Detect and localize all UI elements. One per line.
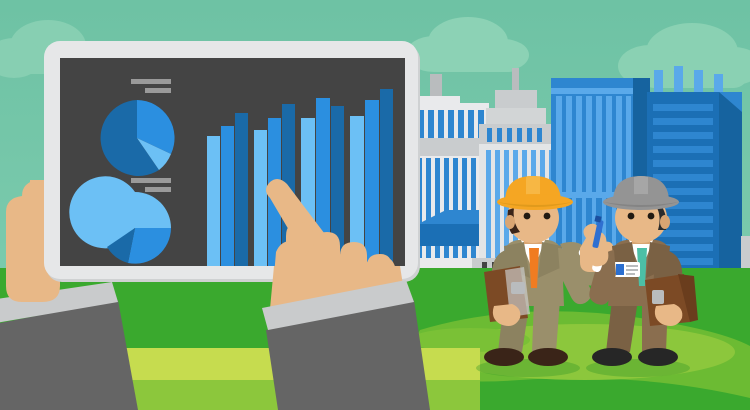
engineer-gray-shoe-back [592, 348, 632, 366]
pie-bottom-label-short [145, 187, 171, 192]
engineer-gray-clipboard-clip [652, 290, 664, 304]
building-white-left-band [411, 138, 489, 156]
illustration-scene [0, 0, 750, 410]
building-gray-tower-antenna [512, 68, 519, 90]
pie-top-label-long [131, 79, 171, 84]
engineer-orange-shoe-back [484, 348, 524, 366]
engineer-orange-shoe-front [528, 348, 568, 366]
building-navy-right-side [718, 92, 742, 274]
building-white-left-roofplate [418, 224, 489, 246]
engineer-orange-clipboard-clip [511, 282, 525, 294]
engineer-gray-shoe-front [638, 348, 678, 366]
bar-g1-mid [221, 126, 234, 266]
engineer-gray-id-badge-photo [616, 264, 624, 275]
engineer-gray-pen-tip [594, 215, 601, 222]
bar-g1-dark [235, 113, 248, 266]
engineer-orange-eye-left [524, 213, 531, 220]
engineer-gray-hardhat-brim [603, 194, 679, 210]
building-gray-tower-step2 [486, 108, 546, 124]
engineer-orange-hardhat-brim [497, 194, 573, 210]
pie-chart-top[interactable] [101, 100, 175, 176]
bar-g4-dark [380, 89, 393, 266]
building-far-left-small [430, 74, 442, 96]
engineer-orange-eye-right [544, 213, 551, 220]
engineer-orange-leg-front [532, 300, 560, 352]
engineer-gray-eye-left [628, 213, 635, 220]
pie-bottom-label-long [131, 178, 171, 183]
bar-g4-mid [365, 100, 379, 266]
engineer-gray-eye-right [648, 213, 655, 220]
engineer-gray-ear [660, 215, 670, 229]
building-blue-tall-topband [551, 88, 633, 94]
scene-canvas [0, 0, 750, 410]
building-gray-tower-step3 [495, 90, 537, 108]
pie-top-label-short [145, 88, 171, 93]
bar-g1-light [207, 136, 220, 266]
bar-g2-light [254, 130, 267, 266]
engineer-orange-ear [505, 215, 515, 229]
